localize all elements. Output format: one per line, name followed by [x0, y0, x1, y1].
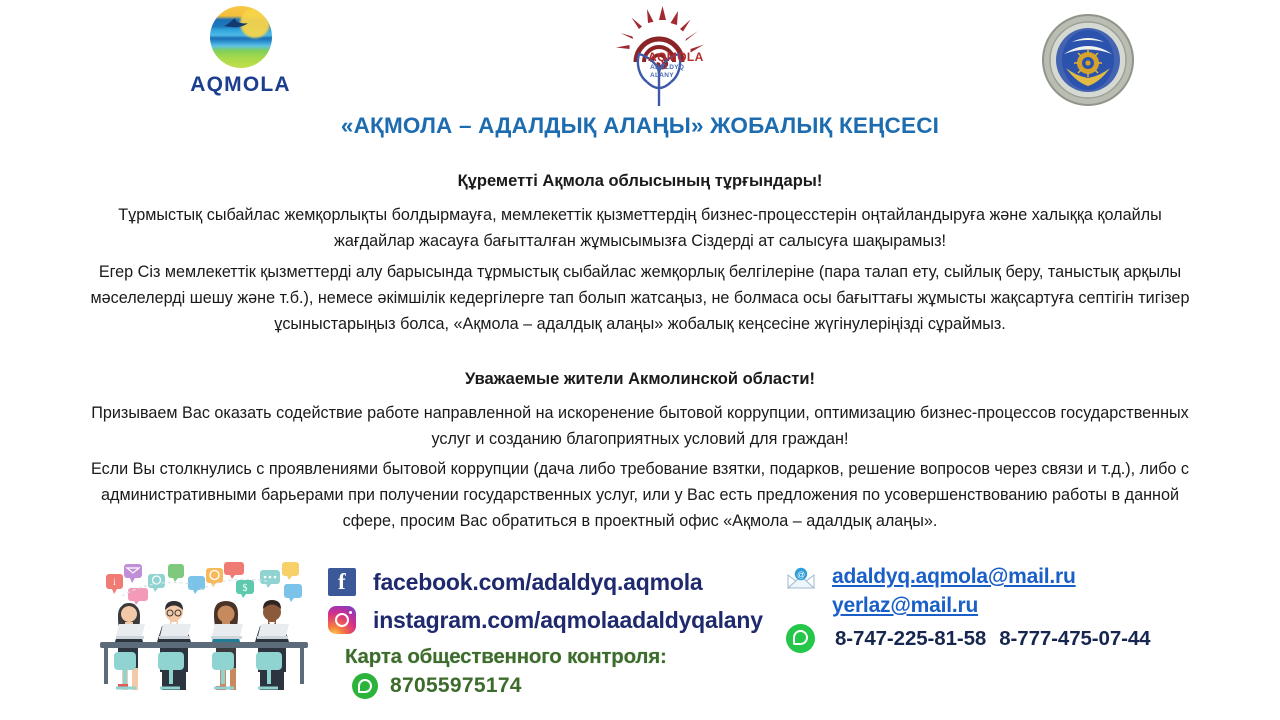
aqmola-wordmark: AQMOLA — [190, 73, 291, 97]
state-emblem-icon — [1042, 14, 1134, 106]
whatsapp-icon[interactable] — [786, 624, 815, 653]
kazakh-heading: Құреметті Ақмола облысының тұрғындары! — [90, 170, 1190, 192]
office-workers-illustration: i $ — [92, 556, 318, 706]
email-list: adaldyq.aqmola@mail.ru yerlaz@mail.ru — [832, 562, 1076, 620]
center-logo-name: AQMOLA — [648, 50, 704, 64]
poster-page: AQMOLA — [0, 0, 1280, 720]
aqmola-region-logo: AQMOLA — [183, 6, 298, 98]
subtitle-line-2: ALANY — [650, 72, 674, 79]
svg-text:@: @ — [797, 570, 805, 579]
svg-text:$: $ — [243, 583, 248, 594]
public-control-phone: 87055975174 — [390, 674, 522, 698]
russian-paragraph-2: Если Вы столкнулись с проявлениями бытов… — [90, 456, 1190, 534]
kazakhstan-state-emblem — [1042, 14, 1134, 106]
russian-paragraph-1: Призываем Вас оказать содействие работе … — [90, 400, 1190, 452]
office-workers-icon: i $ — [92, 556, 318, 706]
public-control-title: Карта общественного контроля: — [345, 645, 667, 669]
instagram-link-row[interactable]: instagram.com/aqmolaadaldyqalany — [328, 601, 763, 639]
center-logo-subtitle: ADALDYQ ALANY — [650, 64, 684, 79]
phones-row: 8-747-225-81-588-777-475-07-44 — [786, 624, 1150, 653]
phone-number-1: 8-747-225-81-58 — [835, 627, 986, 650]
kazakh-paragraph-1: Тұрмыстық сыбайлас жемқорлықты болдырмау… — [90, 202, 1190, 254]
instagram-icon[interactable] — [328, 606, 356, 634]
phone-number-2: 8-777-475-07-44 — [999, 627, 1150, 650]
facebook-link-label[interactable]: facebook.com/adaldyq.aqmola — [373, 569, 702, 596]
contact-block: @ adaldyq.aqmola@mail.ru yerlaz@mail.ru … — [786, 562, 1150, 653]
whatsapp-handset — [793, 630, 808, 645]
aqmola-globe-icon — [210, 6, 272, 68]
phone-numbers: 8-747-225-81-588-777-475-07-44 — [835, 627, 1150, 651]
public-control-phone-row: 87055975174 — [352, 673, 667, 699]
subtitle-line-1: ADALDYQ — [650, 64, 684, 71]
whatsapp-icon[interactable] — [352, 673, 378, 699]
instagram-link-label[interactable]: instagram.com/aqmolaadaldyqalany — [373, 607, 763, 634]
email-link-1[interactable]: adaldyq.aqmola@mail.ru — [832, 562, 1076, 591]
bird-icon — [223, 17, 249, 29]
email-envelope-icon: @ — [786, 567, 816, 589]
email-row: @ adaldyq.aqmola@mail.ru yerlaz@mail.ru — [786, 562, 1150, 620]
kazakh-paragraph-2: Егер Сіз мемлекеттік қызметтерді алу бар… — [80, 259, 1200, 337]
public-control-block: Карта общественного контроля: 8705597517… — [345, 645, 667, 699]
instagram-ring — [335, 613, 349, 627]
facebook-link-row[interactable]: facebook.com/adaldyq.aqmola — [328, 563, 763, 601]
russian-heading: Уважаемые жители Акмолинской области! — [90, 368, 1190, 390]
instagram-dot — [349, 611, 352, 614]
social-links: facebook.com/adaldyq.aqmola instagram.co… — [328, 563, 763, 639]
page-title: «АҚМОЛА – АДАЛДЫҚ АЛАҢЫ» ЖОБАЛЫҚ КЕҢСЕСІ — [0, 113, 1280, 139]
whatsapp-handset — [358, 679, 372, 693]
email-link-2[interactable]: yerlaz@mail.ru — [832, 591, 1076, 620]
adaldyq-alany-logo: AQMOLA ADALDYQ ALANY — [603, 2, 715, 106]
facebook-icon[interactable] — [328, 568, 356, 596]
